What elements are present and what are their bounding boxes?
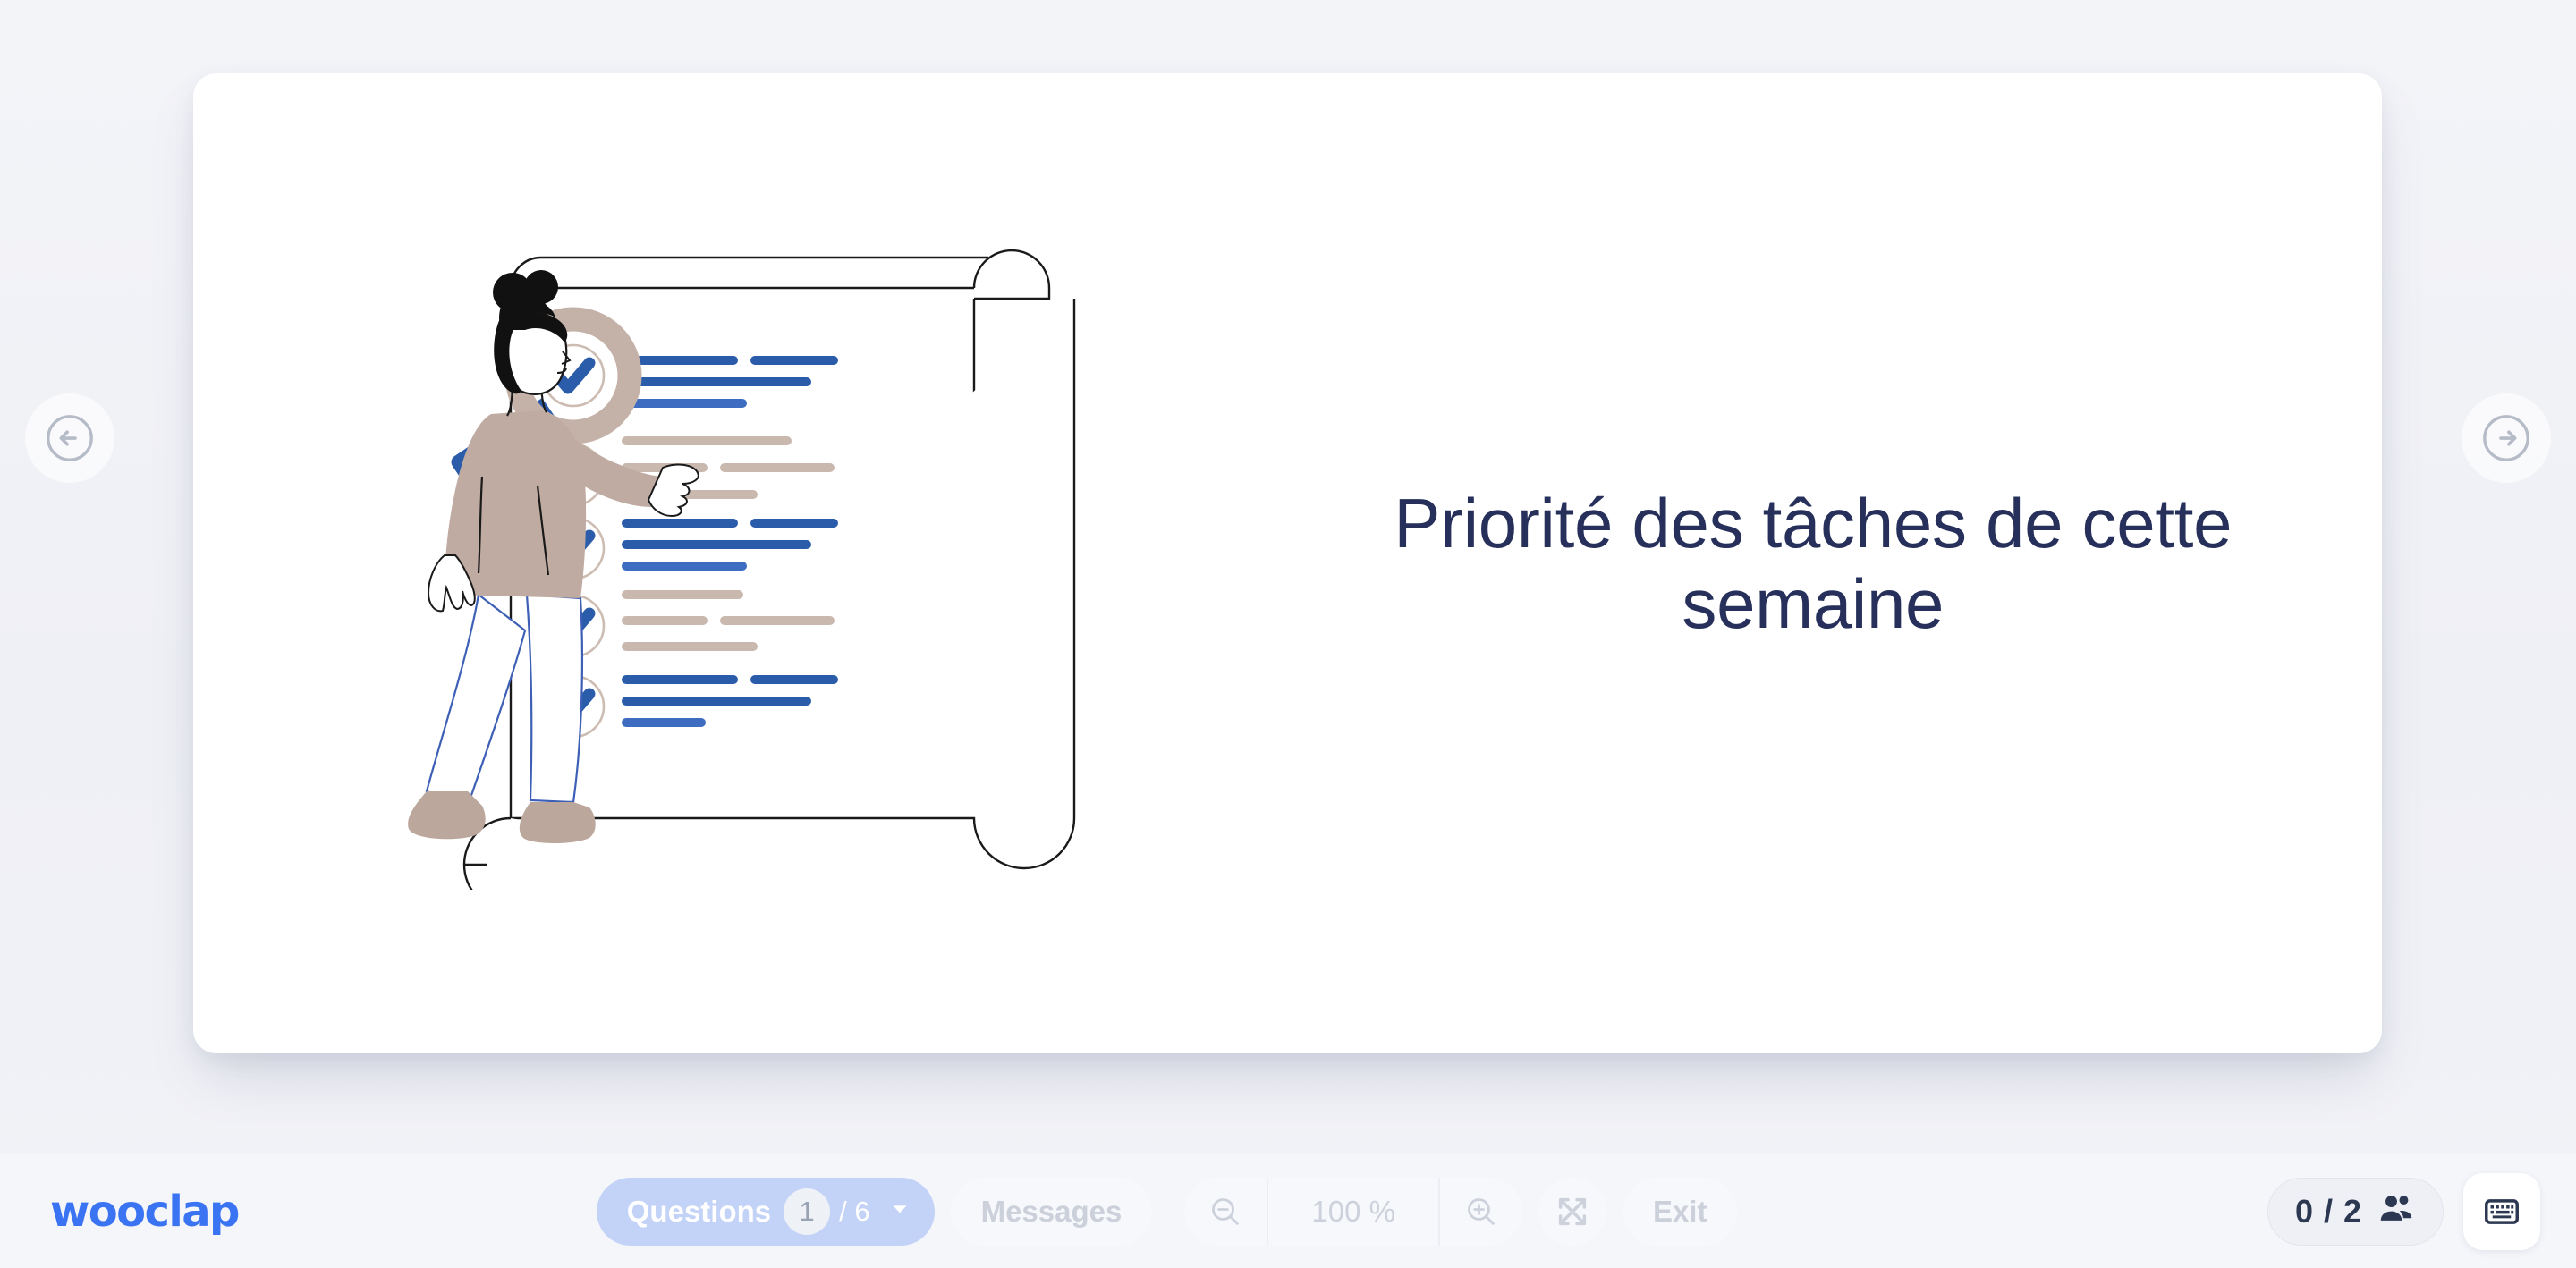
zoom-level-display: 100 % <box>1267 1178 1438 1246</box>
questions-label: Questions <box>627 1195 771 1229</box>
messages-label: Messages <box>981 1195 1123 1229</box>
slide-card: Priorité des tâches de cette semaine <box>193 73 2382 1053</box>
zoom-in-icon <box>1463 1194 1499 1230</box>
question-total-count: / 6 <box>839 1196 869 1228</box>
toolbar-right-group: 0 / 2 <box>2267 1173 2540 1250</box>
woman-with-magnifier-checklist-icon <box>405 237 1085 890</box>
question-current-index: 1 <box>784 1188 830 1235</box>
participants-count: 0 / 2 <box>2295 1193 2362 1230</box>
zoom-controls: 100 % <box>1184 1178 1522 1246</box>
slide-text-area: Priorité des tâches de cette semaine <box>1244 73 2382 1053</box>
zoom-out-button[interactable] <box>1184 1178 1267 1246</box>
presentation-toolbar: wooclap Questions 1 / 6 Messages <box>0 1154 2576 1268</box>
chevron-down-icon <box>888 1197 911 1225</box>
arrow-left-circle-icon <box>44 412 96 464</box>
slide-stage: Priorité des tâches de cette semaine Pre… <box>0 0 2576 1154</box>
fullscreen-button[interactable]: Fullscreen <box>1538 1178 1606 1246</box>
wooclap-presentation-screen: Priorité des tâches de cette semaine Pre… <box>0 0 2576 1268</box>
zoom-in-button[interactable] <box>1438 1178 1522 1246</box>
keyboard-icon <box>2482 1192 2521 1231</box>
exit-button[interactable]: Exit <box>1623 1178 1738 1246</box>
zoom-out-icon <box>1207 1194 1243 1230</box>
people-icon <box>2377 1189 2416 1233</box>
zoom-level-value: 100 % <box>1292 1195 1415 1229</box>
messages-button[interactable]: Messages <box>951 1178 1153 1246</box>
slide-title: Priorité des tâches de cette semaine <box>1384 483 2242 645</box>
arrow-right-circle-icon <box>2480 412 2532 464</box>
exit-label: Exit <box>1653 1195 1707 1229</box>
fullscreen-expand-icon <box>1555 1194 1590 1230</box>
questions-selector[interactable]: Questions 1 / 6 <box>597 1178 935 1246</box>
next-slide-button[interactable]: Next slide <box>2462 393 2551 483</box>
slide-illustration <box>193 73 1244 1053</box>
toolbar-center-group: Questions 1 / 6 Messages <box>294 1178 2267 1246</box>
wooclap-logo[interactable]: wooclap <box>50 1187 239 1237</box>
keyboard-shortcuts-button[interactable]: Keyboard shortcuts <box>2463 1173 2540 1250</box>
participants-counter[interactable]: 0 / 2 <box>2267 1178 2444 1246</box>
previous-slide-button[interactable]: Previous slide <box>25 393 114 483</box>
